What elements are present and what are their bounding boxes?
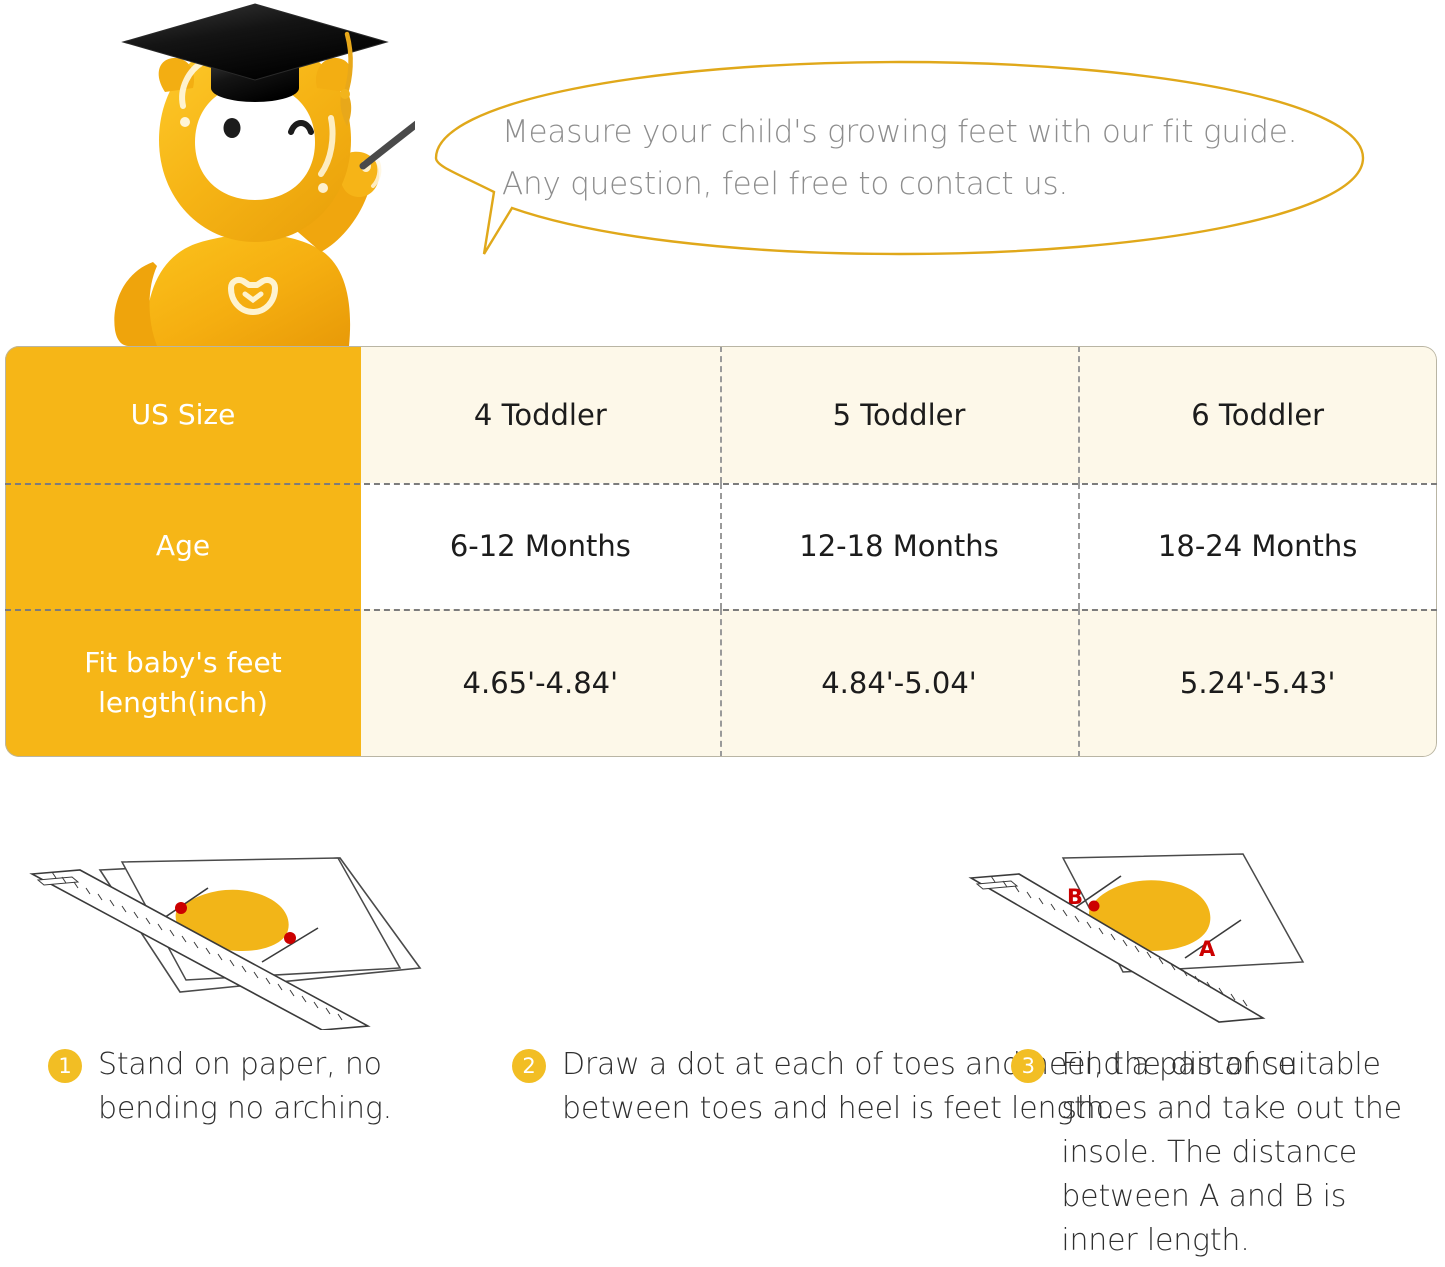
step-number-badge: 2 [512,1049,546,1083]
table-cell: 6 Toddler [1078,346,1437,483]
row-header-age: Age [5,483,361,609]
speech-bubble-text: Measure your child's growing feet with o… [502,106,1302,210]
mascot-eye-left [224,118,241,138]
point-b-dot [1089,901,1100,912]
heel-dot [284,932,296,944]
table-cell: 4 Toddler [361,346,720,483]
table-cell: 12-18 Months [720,483,1079,609]
table-cell: 5.24'-5.43' [1078,609,1437,757]
row-header-us-size: US Size [5,346,361,483]
table-row: Age 6-12 Months 12-18 Months 18-24 Month… [5,483,1437,609]
step-number-badge: 1 [48,1049,82,1083]
step-3: B A [963,800,1445,1267]
table-cell: 6-12 Months [361,483,720,609]
measurement-steps: 1 Stand on paper, no bending no arching. [0,800,1445,1267]
speech-bubble: Measure your child's growing feet with o… [432,58,1367,258]
table-row: Fit baby's feet length(inch) 4.65'-4.84'… [5,609,1437,757]
step-2: 2 Draw a dot at each of toes and heel, t… [482,800,964,1267]
step-number-badge: 3 [1011,1049,1045,1083]
step-description: Stand on paper, no bending no arching. [98,1043,462,1131]
table-cell: 18-24 Months [1078,483,1437,609]
step-3-caption: 3 Find a pair of suitable shoes and take… [1011,1043,1425,1263]
graduate-mascot [95,0,415,346]
row-header-label: US Size [131,395,236,435]
label-a: A [1199,937,1216,961]
row-header-label-line2: length(inch) [98,683,268,723]
pointer-stick [363,78,415,166]
step-1-caption: 1 Stand on paper, no bending no arching. [48,1043,462,1131]
ruler-insole-ab-icon: B A [963,820,1443,1030]
table-cell: 5 Toddler [720,346,1079,483]
row-header-label-line1: Fit baby's feet [84,643,281,683]
header-illustration-area: Measure your child's growing feet with o… [0,0,1445,346]
row-header-label: Age [156,526,210,566]
table-row: US Size 4 Toddler 5 Toddler 6 Toddler [5,346,1437,483]
table-cell: 4.84'-5.04' [720,609,1079,757]
step-3-figure: B A [963,820,1445,1030]
mascot-illustration [95,0,415,346]
row-header-foot-length: Fit baby's feet length(inch) [5,609,361,757]
size-chart-table: US Size 4 Toddler 5 Toddler 6 Toddler Ag… [5,346,1437,757]
ruler-foot-dots-icon [0,820,480,1030]
table-cell: 4.65'-4.84' [361,609,720,757]
step-description: Find a pair of suitable shoes and take o… [1061,1043,1425,1263]
toe-dot [175,902,187,914]
